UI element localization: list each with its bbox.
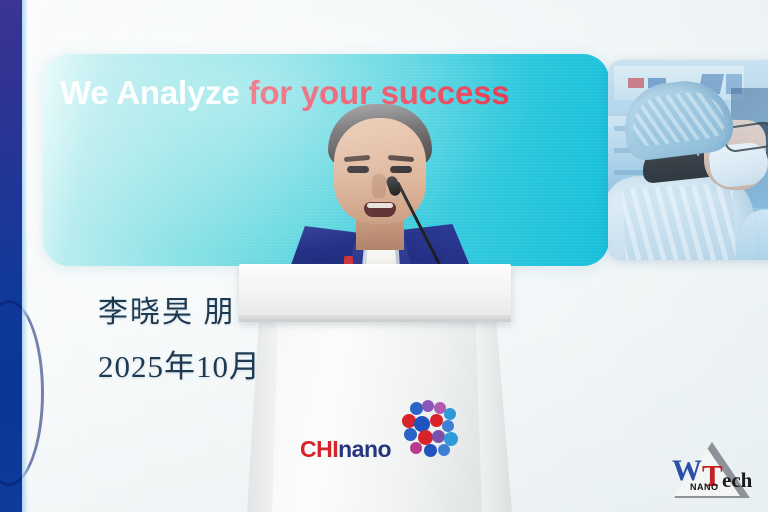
speaker-person [284,104,474,284]
podium-top-edge [239,315,511,322]
lab-photo-card [608,60,768,260]
headline-white-part: We Analyze [60,74,240,111]
coat-folds [622,183,736,260]
teeth [367,203,393,208]
eye-right [390,166,412,173]
slide-date: 2025年10月 [98,341,261,386]
wtech-nano-watermark: W T ech NANO [668,440,760,502]
cap-folds [629,89,726,148]
left-blue-backdrop-band [0,0,22,512]
chinano-suffix: nano [338,436,391,462]
slide-presenter-name: 李晓旲 朋 [98,287,236,331]
chinano-prefix: CHI [300,436,338,462]
chinano-logo: CHInano [300,400,460,470]
nose [372,174,386,198]
watermark-text-nano: NANO [690,482,719,492]
chinano-bubble-c-mark [400,400,462,458]
watermark-text-ech: ech [722,470,752,491]
eye-left [347,166,369,173]
screenshot-stage: We Analyze for your success [0,0,768,512]
podium-top-surface [239,264,511,322]
monitor-red-block [628,78,644,88]
chinano-wordmark: CHInano [300,436,391,463]
